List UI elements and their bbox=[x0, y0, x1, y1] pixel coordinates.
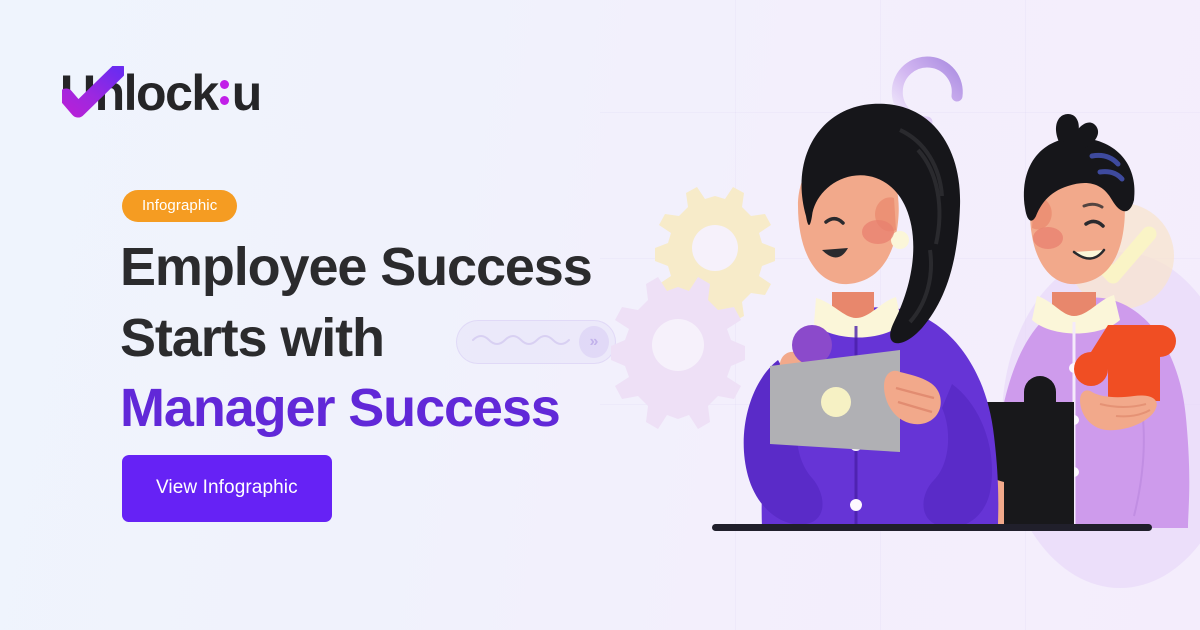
headline-line-3: Manager Success bbox=[120, 373, 592, 444]
view-infographic-button[interactable]: View Infographic bbox=[122, 455, 332, 522]
laptop-screen bbox=[770, 350, 900, 452]
ground-line bbox=[712, 524, 1152, 531]
person-woman-figure bbox=[744, 104, 999, 528]
content-column: Unlock u Infographic Employee Success St… bbox=[60, 0, 660, 630]
promo-banner: Unlock u Infographic Employee Success St… bbox=[0, 0, 1200, 630]
brand-logo[interactable]: Unlock u bbox=[60, 56, 261, 118]
decorative-pill: » bbox=[456, 320, 616, 364]
category-badge: Infographic bbox=[122, 190, 237, 222]
laptop-logo-dot-icon bbox=[821, 387, 851, 417]
headline-line-1: Employee Success bbox=[120, 232, 592, 303]
two-coworkers-illustration bbox=[600, 0, 1200, 630]
colon-dots-icon bbox=[220, 80, 229, 107]
wavy-line-icon bbox=[471, 331, 579, 354]
logo-word-secondary: u bbox=[232, 68, 261, 118]
